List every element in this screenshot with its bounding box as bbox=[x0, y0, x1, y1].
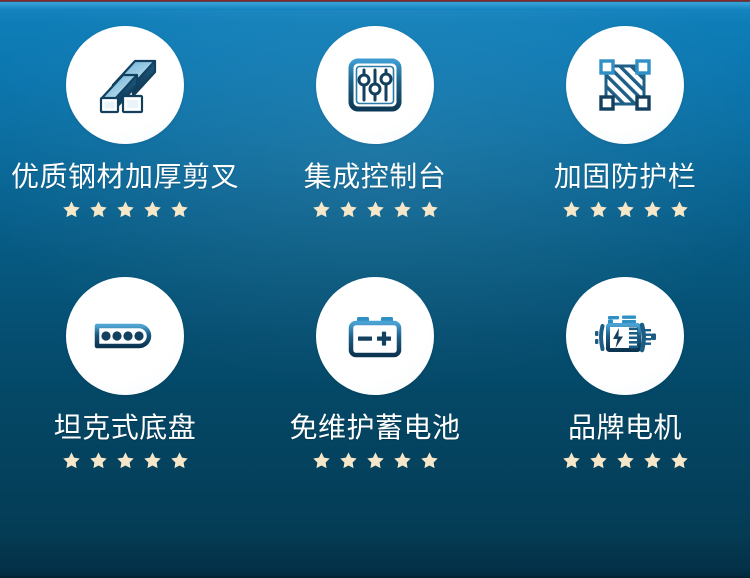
rating-stars bbox=[62, 200, 189, 219]
star-icon bbox=[562, 451, 581, 470]
star-icon bbox=[62, 200, 81, 219]
star-icon bbox=[116, 451, 135, 470]
feature-icon-badge bbox=[66, 277, 184, 395]
star-icon bbox=[339, 200, 358, 219]
star-icon bbox=[366, 451, 385, 470]
star-icon bbox=[420, 451, 439, 470]
rating-stars bbox=[312, 451, 439, 470]
feature-label: 加固防护栏 bbox=[554, 162, 697, 191]
rating-stars bbox=[312, 200, 439, 219]
electric-motor-icon bbox=[589, 300, 661, 372]
star-icon bbox=[616, 451, 635, 470]
steel-beams-icon bbox=[89, 49, 161, 121]
star-icon bbox=[312, 451, 331, 470]
control-panel-sliders-icon bbox=[339, 49, 411, 121]
star-icon bbox=[339, 451, 358, 470]
star-icon bbox=[89, 451, 108, 470]
bottom-gradient-overlay bbox=[0, 536, 750, 578]
star-icon bbox=[393, 451, 412, 470]
top-highlight-band bbox=[0, 2, 750, 10]
feature-card-steel-scissor-lift[interactable]: 优质钢材加厚剪叉 bbox=[0, 26, 250, 277]
star-icon bbox=[143, 451, 162, 470]
feature-label: 坦克式底盘 bbox=[54, 413, 197, 442]
star-icon bbox=[562, 200, 581, 219]
star-icon bbox=[143, 200, 162, 219]
feature-card-tank-chassis[interactable]: 坦克式底盘 bbox=[0, 277, 250, 528]
star-icon bbox=[670, 451, 689, 470]
star-icon bbox=[589, 200, 608, 219]
feature-icon-badge bbox=[316, 277, 434, 395]
feature-icon-badge bbox=[566, 277, 684, 395]
feature-card-integrated-control-panel[interactable]: 集成控制台 bbox=[250, 26, 500, 277]
feature-card-reinforced-guardrail[interactable]: 加固防护栏 bbox=[500, 26, 750, 277]
feature-label: 品牌电机 bbox=[568, 413, 682, 442]
feature-card-brand-motor[interactable]: 品牌电机 bbox=[500, 277, 750, 528]
rating-stars bbox=[562, 451, 689, 470]
feature-card-maintenance-free-battery[interactable]: 免维护蓄电池 bbox=[250, 277, 500, 528]
star-icon bbox=[670, 200, 689, 219]
battery-icon bbox=[339, 300, 411, 372]
star-icon bbox=[62, 451, 81, 470]
feature-grid: 优质钢材加厚剪叉 bbox=[0, 26, 750, 528]
star-icon bbox=[366, 200, 385, 219]
star-icon bbox=[170, 200, 189, 219]
rating-stars bbox=[62, 451, 189, 470]
star-icon bbox=[589, 451, 608, 470]
star-icon bbox=[89, 200, 108, 219]
star-icon bbox=[170, 451, 189, 470]
feature-label: 免维护蓄电池 bbox=[289, 413, 460, 442]
feature-label: 优质钢材加厚剪叉 bbox=[11, 162, 239, 191]
star-icon bbox=[393, 200, 412, 219]
guardrail-frame-icon bbox=[589, 49, 661, 121]
star-icon bbox=[420, 200, 439, 219]
rating-stars bbox=[562, 200, 689, 219]
feature-banner: 优质钢材加厚剪叉 bbox=[0, 0, 750, 578]
feature-label: 集成控制台 bbox=[304, 162, 447, 191]
star-icon bbox=[312, 200, 331, 219]
feature-icon-badge bbox=[316, 26, 434, 144]
star-icon bbox=[643, 200, 662, 219]
feature-icon-badge bbox=[566, 26, 684, 144]
tank-track-icon bbox=[89, 300, 161, 372]
star-icon bbox=[116, 200, 135, 219]
top-accent-rule bbox=[0, 0, 750, 2]
feature-icon-badge bbox=[66, 26, 184, 144]
star-icon bbox=[643, 451, 662, 470]
star-icon bbox=[616, 200, 635, 219]
